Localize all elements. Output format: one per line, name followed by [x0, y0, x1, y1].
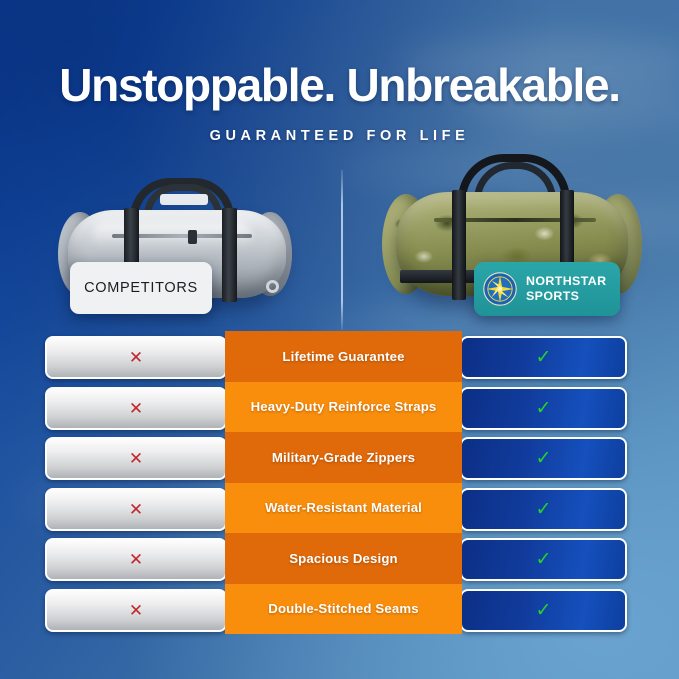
northstar-cell: ✓	[460, 387, 627, 430]
bag-strap	[222, 208, 237, 302]
infographic-canvas: Unstoppable. Unbreakable. GUARANTEED FOR…	[0, 0, 679, 679]
compass-star-icon	[482, 271, 518, 307]
feature-label: Lifetime Guarantee	[225, 331, 462, 382]
cross-icon: ✕	[129, 450, 143, 467]
bag-d-ring	[266, 280, 279, 293]
competitor-cell: ✕	[45, 488, 227, 531]
northstar-badge-label: NORTHSTAR SPORTS	[526, 274, 606, 304]
check-icon: ✓	[536, 449, 552, 468]
feature-label: Spacious Design	[225, 533, 462, 584]
comparison-row: ✕✓Military-Grade Zippers	[0, 432, 679, 482]
comparison-row: ✕✓Water-Resistant Material	[0, 483, 679, 533]
check-icon: ✓	[536, 399, 552, 418]
bag-strap	[452, 190, 466, 300]
feature-label: Military-Grade Zippers	[225, 432, 462, 483]
competitors-badge: COMPETITORS	[70, 262, 212, 314]
cross-icon: ✕	[129, 551, 143, 568]
feature-label: Double-Stitched Seams	[225, 584, 462, 635]
northstar-cell: ✓	[460, 589, 627, 632]
cross-icon: ✕	[129, 501, 143, 518]
northstar-cell: ✓	[460, 437, 627, 480]
page-subheadline: GUARANTEED FOR LIFE	[0, 128, 679, 144]
bag-handle-grip	[160, 194, 208, 205]
page-headline: Unstoppable. Unbreakable.	[0, 58, 679, 112]
competitor-cell: ✕	[45, 336, 227, 379]
northstar-cell: ✓	[460, 538, 627, 581]
check-icon: ✓	[536, 500, 552, 519]
feature-label: Heavy-Duty Reinforce Straps	[225, 382, 462, 433]
check-icon: ✓	[536, 601, 552, 620]
feature-label: Water-Resistant Material	[225, 483, 462, 534]
comparison-row: ✕✓Spacious Design	[0, 533, 679, 583]
cross-icon: ✕	[129, 602, 143, 619]
competitor-cell: ✕	[45, 589, 227, 632]
column-divider	[341, 170, 343, 330]
northstar-cell: ✓	[460, 336, 627, 379]
check-icon: ✓	[536, 348, 552, 367]
bag-zipper-pull	[188, 230, 197, 244]
northstar-badge-line1: NORTHSTAR	[526, 274, 606, 288]
comparison-row: ✕✓Heavy-Duty Reinforce Straps	[0, 382, 679, 432]
cross-icon: ✕	[129, 400, 143, 417]
comparison-row: ✕✓Double-Stitched Seams	[0, 584, 679, 634]
northstar-badge-line2: SPORTS	[526, 289, 579, 303]
comparison-row: ✕✓Lifetime Guarantee	[0, 331, 679, 381]
northstar-badge: NORTHSTAR SPORTS	[474, 262, 620, 316]
competitor-cell: ✕	[45, 387, 227, 430]
cross-icon: ✕	[129, 349, 143, 366]
competitors-badge-label: COMPETITORS	[84, 280, 198, 296]
check-icon: ✓	[536, 550, 552, 569]
competitor-cell: ✕	[45, 437, 227, 480]
northstar-cell: ✓	[460, 488, 627, 531]
competitor-cell: ✕	[45, 538, 227, 581]
